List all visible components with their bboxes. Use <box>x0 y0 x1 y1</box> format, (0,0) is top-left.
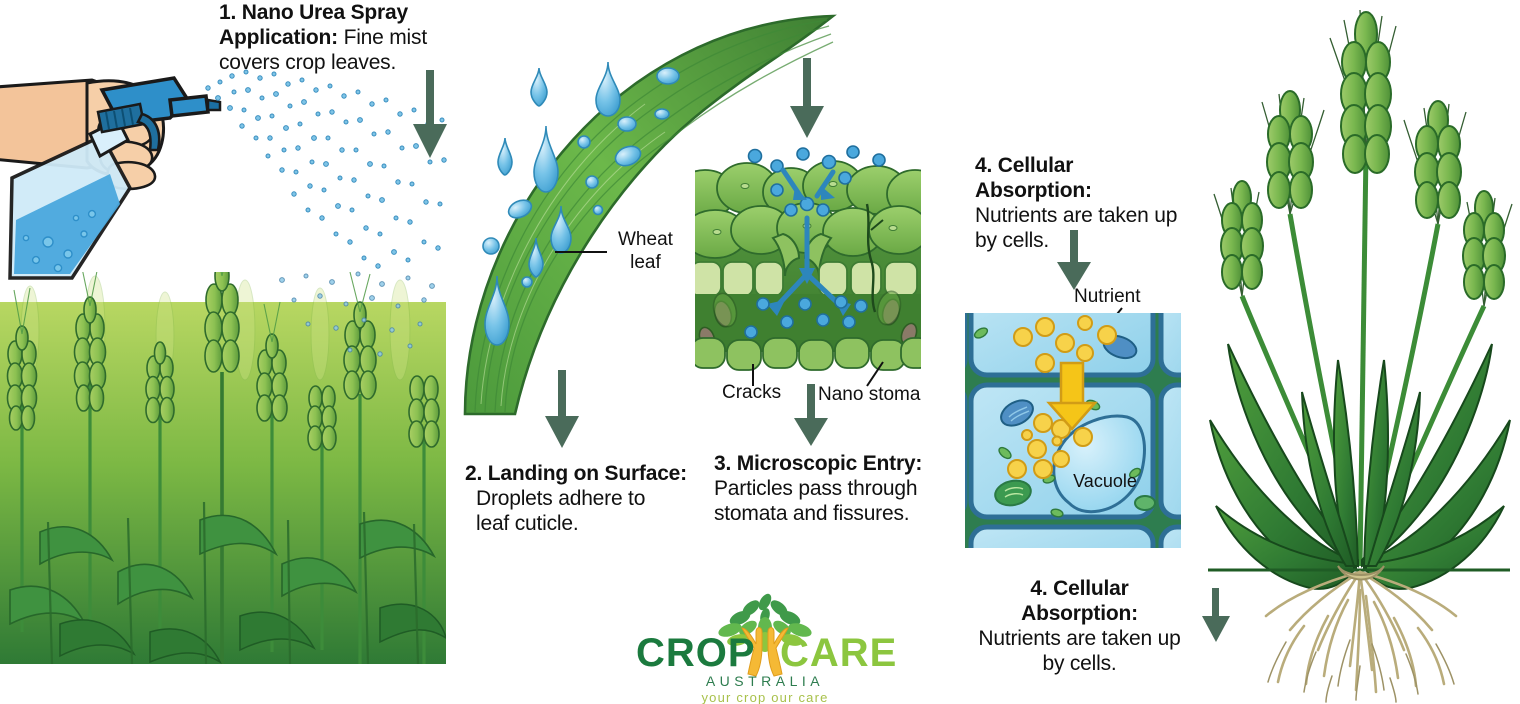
infographic-canvas: 1. Nano Urea Spray Application: Fine mis… <box>0 0 1520 704</box>
step-1-body-line2: covers crop leaves. <box>219 51 396 74</box>
logo-word-care: CARE <box>780 631 897 675</box>
step-3-title: 3. Microscopic Entry: <box>714 452 922 475</box>
step-3-body-line2: stomata and fissures. <box>714 502 909 525</box>
wheat-leaf-label: Wheat leaf <box>618 228 673 274</box>
step-2-title: 2. Landing on Surface: <box>465 462 687 485</box>
arrow-down-4 <box>789 384 833 448</box>
step-2-body-line2: leaf cuticle. <box>476 512 578 535</box>
step-4-repeat-title: 4. Cellular Absorption: <box>1021 577 1138 625</box>
step-2-text: 2. Landing on Surface: Droplets adhere t… <box>465 461 695 536</box>
plant-cell-nutrient-uptake-illustration: Vacuole <box>965 313 1181 548</box>
step-4-text-repeat: 4. Cellular Absorption: Nutrients are ta… <box>972 576 1187 676</box>
step-1-title-line1: 1. Nano Urea Spray <box>219 1 408 24</box>
cracks-label: Cracks <box>722 381 781 404</box>
step-1-title-line2: Application: <box>219 26 338 49</box>
wheat-leaf-label-line1: Wheat <box>618 228 673 251</box>
arrow-down-5 <box>1052 230 1096 292</box>
step-4-body-line1: Nutrients are taken up <box>975 204 1177 227</box>
leaf-cross-section-microscopic-illustration <box>695 142 921 374</box>
crop-care-logo: CROP CARE AUSTRALIA your crop our care <box>620 588 910 704</box>
nano-stoma-label: Nano stoma <box>818 383 920 406</box>
step-4-repeat-body-line1: Nutrients are taken up <box>978 627 1180 650</box>
nutrient-label: Nutrient <box>1074 285 1141 308</box>
step-4-body-line2: by cells. <box>975 229 1049 252</box>
logo-country: AUSTRALIA <box>706 673 824 689</box>
step-4-title: 4. Cellular Absorption: <box>975 154 1092 202</box>
logo-word-crop: CROP <box>636 631 756 675</box>
logo-tagline: your crop our care <box>701 690 828 704</box>
mist-over-field <box>272 270 452 380</box>
vacuole-label-text: Vacuole <box>1073 471 1137 491</box>
arrow-down-1 <box>408 70 452 160</box>
step-1-body-line1: Fine mist <box>338 26 427 49</box>
step-3-body-line1: Particles pass through <box>714 477 917 500</box>
step-4-repeat-body-line2: by cells. <box>1042 652 1116 675</box>
arrow-down-3 <box>785 58 829 140</box>
whole-wheat-plant-with-roots-illustration <box>1198 0 1520 704</box>
step-3-text: 3. Microscopic Entry: Particles pass thr… <box>714 451 954 526</box>
wheat-leaf-label-line2: leaf <box>618 251 673 274</box>
step-2-body-line1: Droplets adhere to <box>476 487 645 510</box>
arrow-down-2 <box>540 370 584 450</box>
step-1-text: 1. Nano Urea Spray Application: Fine mis… <box>219 0 449 75</box>
